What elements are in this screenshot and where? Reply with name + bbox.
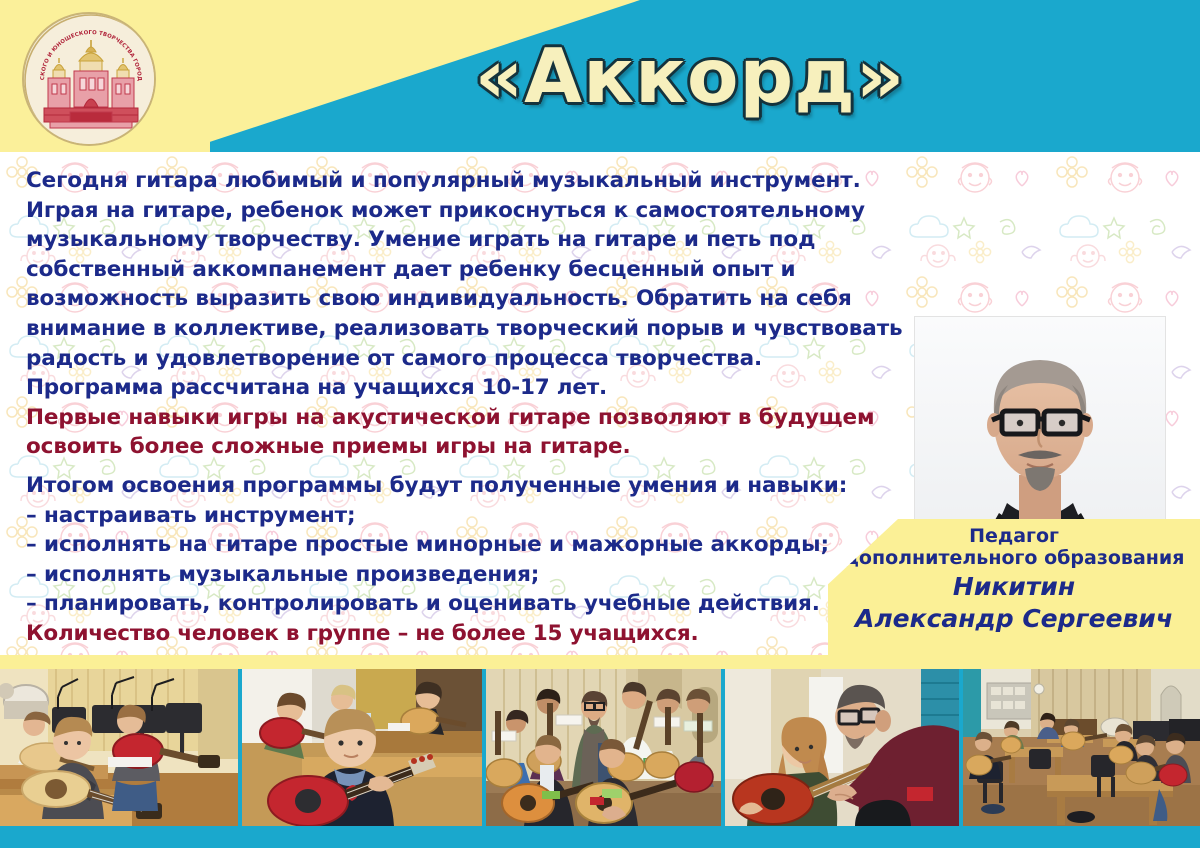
highlight-age-range: Программа рассчитана на учащихся 10-17 л… bbox=[26, 373, 926, 403]
teacher-given-name: Александр Сергеевич bbox=[828, 604, 1200, 634]
outcomes-intro: Итогом освоения программы будут полученн… bbox=[26, 471, 926, 501]
outcome-item: – исполнять музыкальные произведения; bbox=[26, 560, 926, 590]
photo-gallery-strip: МИР bbox=[0, 669, 1200, 848]
yellow-divider-strip bbox=[0, 655, 1200, 669]
gallery-photo-2 bbox=[242, 669, 481, 826]
photo-classroom-wide bbox=[963, 669, 1200, 826]
dvorets-emblem-logo: ДВОРЕЦ ДЕТСКОГО И ЮНОШЕСКОГО ТВОРЧЕСТВА … bbox=[22, 12, 156, 146]
photo-classroom-guitar-lesson bbox=[0, 669, 238, 826]
teacher-caption-text: Педагог дополнительного образования Ники… bbox=[828, 525, 1200, 634]
emblem-icon: ДВОРЕЦ ДЕТСКОГО И ЮНОШЕСКОГО ТВОРЧЕСТВА … bbox=[24, 14, 156, 146]
paragraph1-line: радость и удовлетворение от самого проце… bbox=[26, 344, 926, 374]
poster-root: ДВОРЕЦ ДЕТСКОГО И ЮНОШЕСКОГО ТВОРЧЕСТВА … bbox=[0, 0, 1200, 848]
body-text-column: Сегодня гитара любимый и популярный музы… bbox=[26, 166, 926, 649]
gallery-photo-1 bbox=[0, 669, 238, 826]
outcome-item: – исполнять на гитаре простые минорные и… bbox=[26, 530, 926, 560]
paragraph1-line: собственный аккомпанемент дает ребенку б… bbox=[26, 255, 926, 285]
paragraph1-line: музыкальному творчеству. Умение играть н… bbox=[26, 225, 926, 255]
photo-group-with-certificates: МИР bbox=[486, 669, 721, 826]
poster-header: ДВОРЕЦ ДЕТСКОГО И ЮНОШЕСКОГО ТВОРЧЕСТВА … bbox=[0, 0, 1200, 152]
teacher-role-line-2: дополнительного образования bbox=[828, 547, 1200, 570]
paragraph1-line: Сегодня гитара любимый и популярный музы… bbox=[26, 166, 926, 196]
gallery-photo-3: МИР bbox=[486, 669, 721, 826]
photo-boy-red-guitar bbox=[242, 669, 481, 826]
paragraph1-line: возможность выразить свою индивидуальнос… bbox=[26, 284, 926, 314]
photo-teacher-helping-student bbox=[725, 669, 958, 826]
paragraph1-line: Играя на гитаре, ребенок может прикоснут… bbox=[26, 196, 926, 226]
highlight-group-size: Количество человек в группе – не более 1… bbox=[26, 619, 926, 649]
paragraph1-line: внимание в коллективе, реализовать творч… bbox=[26, 314, 926, 344]
outcome-item: – настраивать инструмент; bbox=[26, 501, 926, 531]
gallery-photo-5 bbox=[963, 669, 1200, 826]
paragraph2-line: Первые навыки игры на акустической гитар… bbox=[26, 403, 926, 433]
teacher-caption-block: Педагог дополнительного образования Ники… bbox=[828, 519, 1200, 655]
gallery-photo-4 bbox=[725, 669, 958, 826]
poster-title: «Аккорд» bbox=[475, 39, 906, 114]
paragraph2-line: освоить более сложные приемы игры на гит… bbox=[26, 432, 926, 462]
poster-title-wrap: «Аккорд» bbox=[240, 14, 1140, 138]
teacher-surname: Никитин bbox=[828, 572, 1200, 602]
outcome-item: – планировать, контролировать и оцениват… bbox=[26, 589, 926, 619]
